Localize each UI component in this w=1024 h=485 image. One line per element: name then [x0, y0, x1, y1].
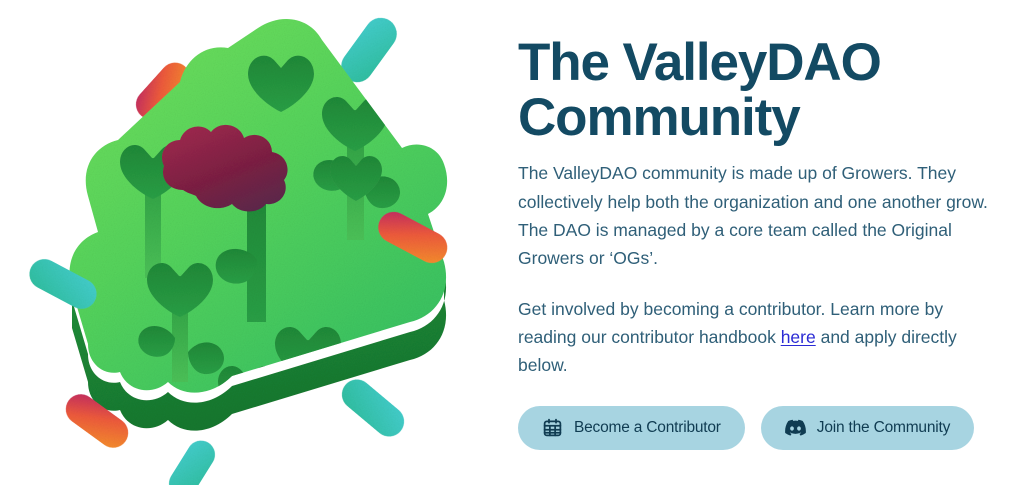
- hero-paragraph-1: The ValleyDAO community is made up of Gr…: [518, 159, 988, 272]
- join-the-community-label: Join the Community: [817, 419, 950, 437]
- page-title: The ValleyDAO Community: [518, 35, 948, 145]
- contributor-handbook-link[interactable]: here: [781, 327, 816, 347]
- community-illustration: [0, 0, 512, 485]
- join-the-community-button[interactable]: Join the Community: [761, 406, 974, 450]
- hero-content: The ValleyDAO Community The ValleyDAO co…: [512, 0, 1024, 485]
- community-hero-section: The ValleyDAO Community The ValleyDAO co…: [0, 0, 1024, 485]
- cta-button-row: Become a Contributor Join the Community: [518, 406, 988, 450]
- discord-icon: [785, 417, 806, 438]
- become-a-contributor-label: Become a Contributor: [574, 419, 721, 437]
- calendar-icon: [542, 417, 563, 438]
- become-a-contributor-button[interactable]: Become a Contributor: [518, 406, 745, 450]
- hero-paragraph-2: Get involved by becoming a contributor. …: [518, 295, 988, 380]
